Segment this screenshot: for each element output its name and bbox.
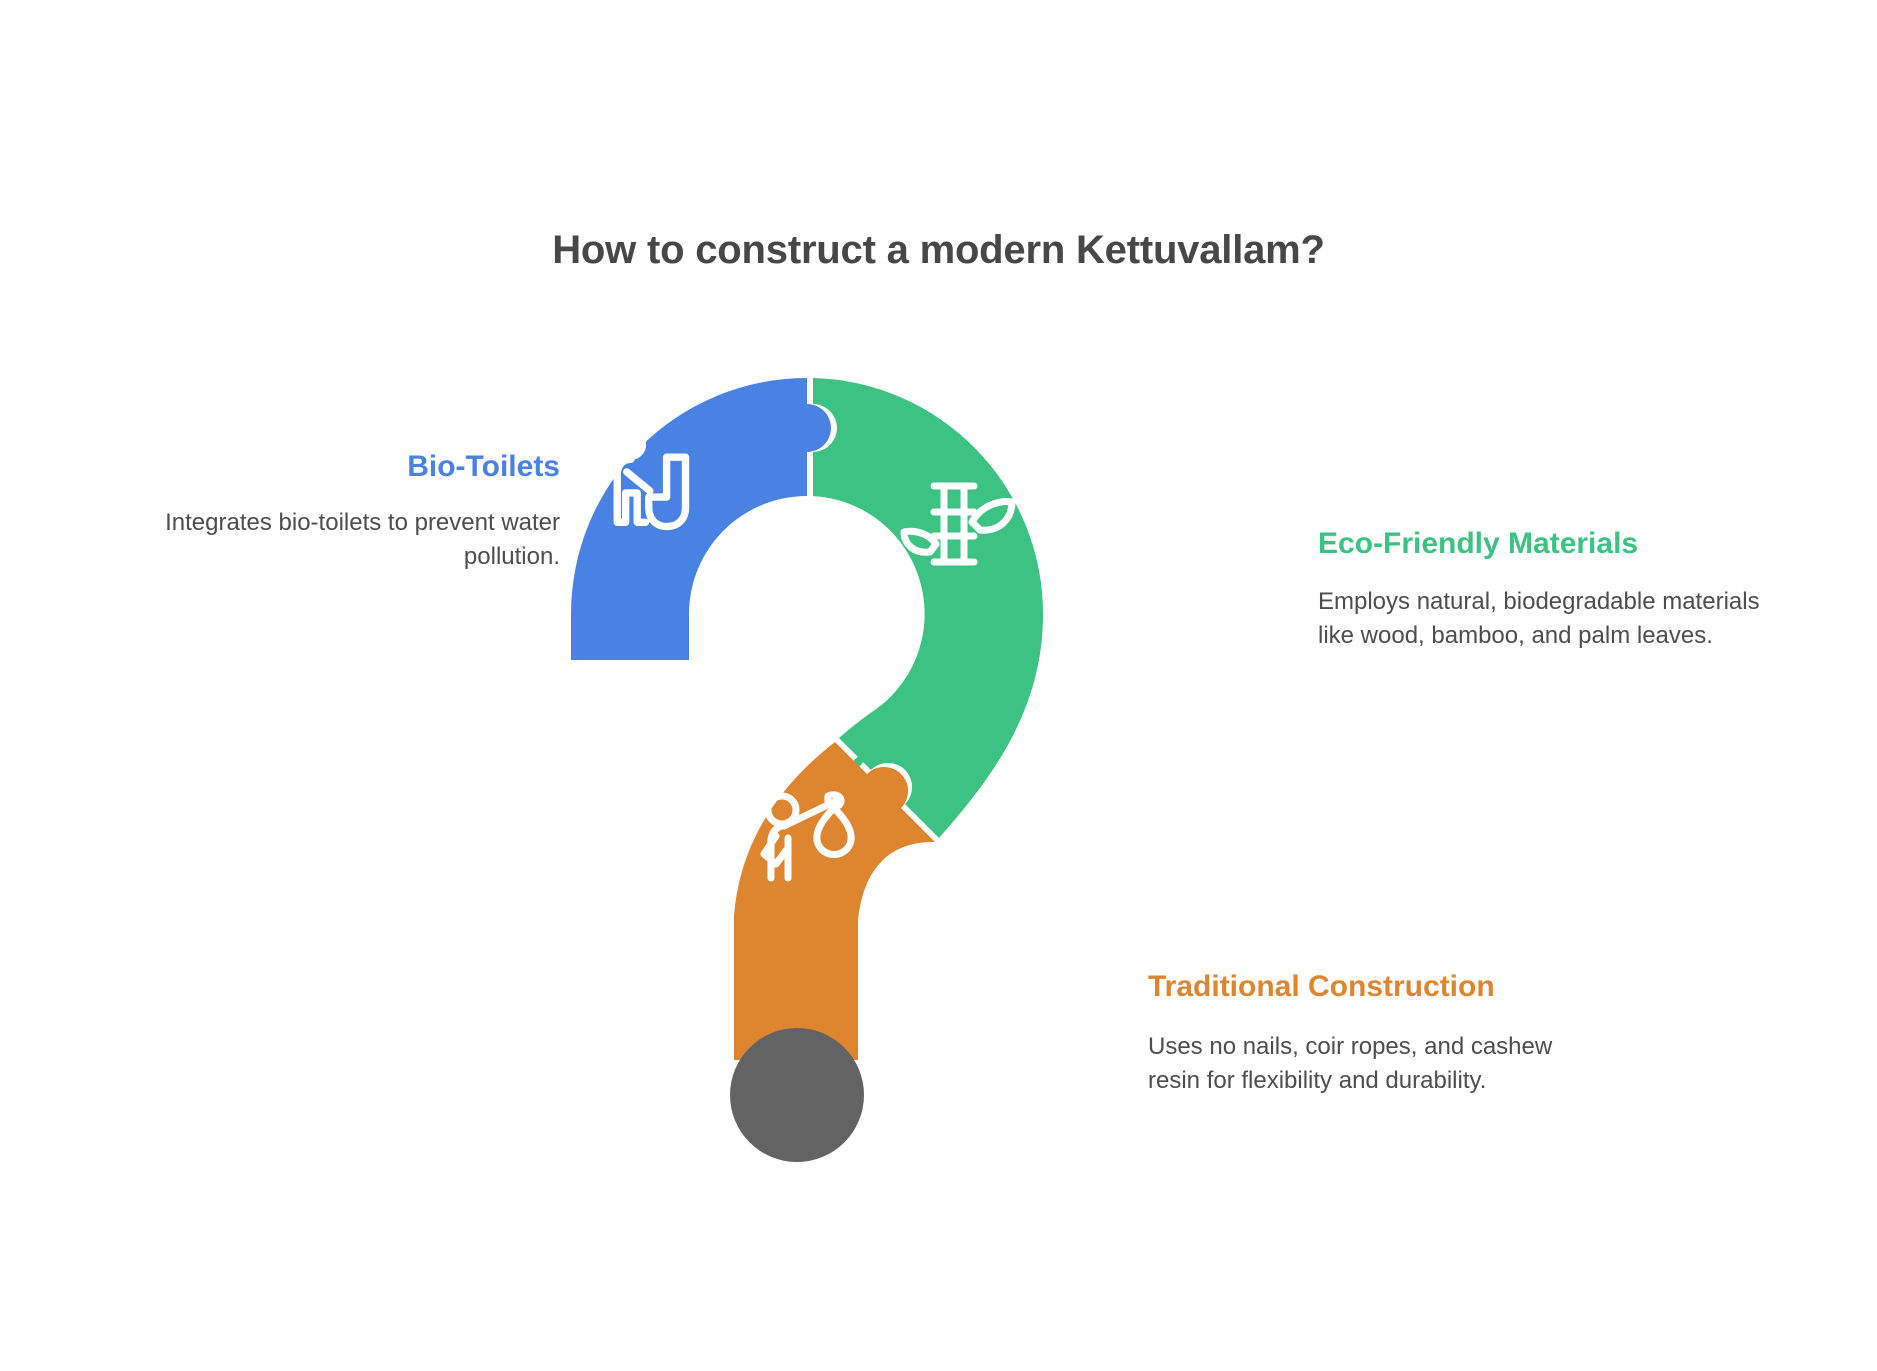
callout-heading-eco-materials: Eco-Friendly Materials bbox=[1318, 525, 1788, 563]
segment-bio-toilets-piece[interactable] bbox=[571, 378, 831, 660]
callout-eco-materials: Eco-Friendly Materials Employs natural, … bbox=[1318, 525, 1788, 654]
callout-bio-toilets: Bio-Toilets Integrates bio-toilets to pr… bbox=[90, 448, 560, 575]
callout-description-eco-materials: Employs natural, biodegradable materials… bbox=[1318, 585, 1788, 653]
question-mark-dot bbox=[730, 1028, 864, 1162]
segment-traditional-construction-piece[interactable] bbox=[734, 742, 935, 1060]
callout-heading-bio-toilets: Bio-Toilets bbox=[90, 448, 560, 486]
callout-description-bio-toilets: Integrates bio-toilets to prevent water … bbox=[90, 506, 560, 574]
question-mark-puzzle-graphic bbox=[560, 360, 1240, 1170]
segment-bio-toilets[interactable] bbox=[571, 378, 831, 660]
segment-traditional-construction[interactable] bbox=[734, 742, 935, 1060]
page-title: How to construct a modern Kettuvallam? bbox=[0, 228, 1877, 273]
